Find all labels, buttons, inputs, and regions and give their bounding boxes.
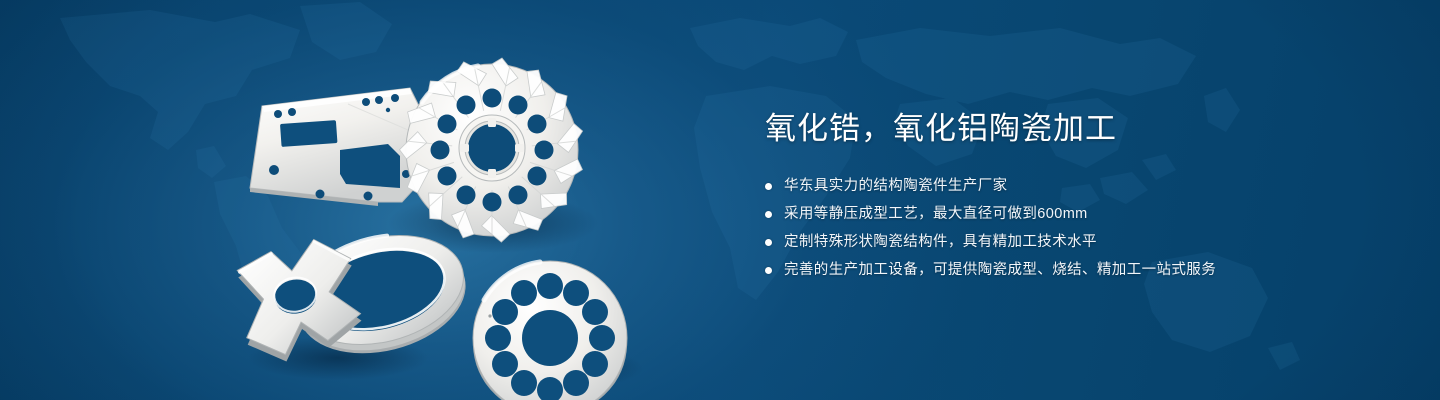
list-item: 定制特殊形状陶瓷结构件，具有精加工技术水平 <box>765 230 1365 255</box>
list-item-label: 定制特殊形状陶瓷结构件，具有精加工技术水平 <box>784 230 1097 255</box>
page-title: 氧化锆，氧化铝陶瓷加工 <box>765 108 1365 150</box>
list-item-label: 采用等静压成型工艺，最大直径可做到600mm <box>784 202 1088 227</box>
bullet-dot-icon <box>765 267 772 274</box>
banner-copy: 氧化锆，氧化铝陶瓷加工 华东具实力的结构陶瓷件生产厂家 采用等静压成型工艺，最大… <box>765 108 1365 286</box>
ceramic-products-photo <box>228 38 698 378</box>
hero-banner: 氧化锆，氧化铝陶瓷加工 华东具实力的结构陶瓷件生产厂家 采用等静压成型工艺，最大… <box>0 0 1440 400</box>
bullet-dot-icon <box>765 211 772 218</box>
list-item: 华东具实力的结构陶瓷件生产厂家 <box>765 174 1365 199</box>
list-item-label: 华东具实力的结构陶瓷件生产厂家 <box>784 174 1008 199</box>
ceramic-plate-part <box>250 88 424 206</box>
feature-list: 华东具实力的结构陶瓷件生产厂家 采用等静压成型工艺，最大直径可做到600mm 定… <box>765 174 1365 283</box>
bullet-dot-icon <box>765 239 772 246</box>
list-item: 完善的生产加工设备，可提供陶瓷成型、烧结、精加工一站式服务 <box>765 258 1365 283</box>
ceramic-perforated-disc-part <box>473 261 627 400</box>
list-item-label: 完善的生产加工设备，可提供陶瓷成型、烧结、精加工一站式服务 <box>784 258 1216 283</box>
bullet-dot-icon <box>765 183 772 190</box>
list-item: 采用等静压成型工艺，最大直径可做到600mm <box>765 202 1365 227</box>
